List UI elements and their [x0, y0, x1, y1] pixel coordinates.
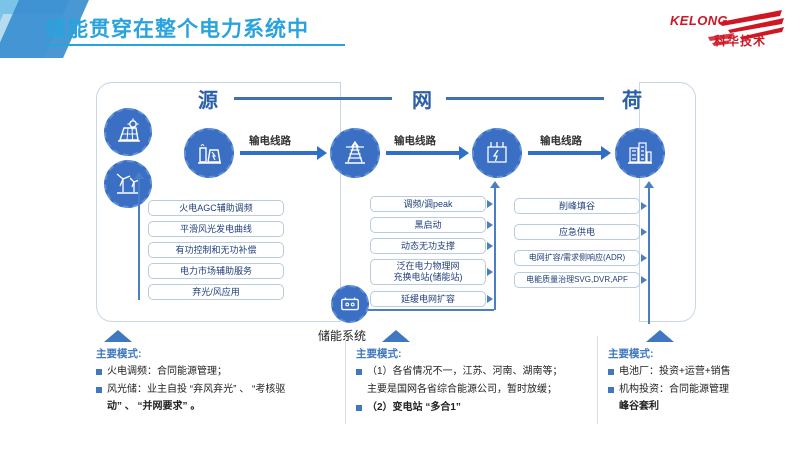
ess-label: 储能系统	[318, 327, 366, 344]
title-underline	[45, 44, 345, 46]
arrow-head-2	[459, 146, 469, 160]
chip-source-3[interactable]: 电力市场辅助服务	[148, 263, 284, 279]
chip-load-3[interactable]: 电能质量治理SVG,DVR,APF	[514, 272, 640, 288]
transmission-tower-icon	[341, 139, 369, 167]
note-source-title: 主要模式:	[96, 346, 336, 361]
arrow-head-1	[317, 146, 327, 160]
page-title: 储能贯穿在整个电力系统中	[45, 13, 309, 43]
arrow-line-2	[386, 151, 460, 155]
load-connector-3	[641, 276, 647, 284]
chip-source-4[interactable]: 弃光/风应用	[148, 284, 284, 300]
source-rail-arrow	[134, 172, 144, 179]
grid-connector-3	[487, 268, 493, 276]
arrow-head-3	[601, 146, 611, 160]
chip-load-2[interactable]: 电网扩容/需求侧响应(ADR)	[514, 250, 640, 266]
section-rule-2	[446, 97, 604, 100]
note-grid-row-0: （1）各省情况不一，江苏、河南、湖南等；	[356, 365, 600, 380]
note-marker-load	[646, 330, 674, 342]
city-buildings-icon	[626, 139, 654, 167]
load-connector-1	[641, 228, 647, 236]
note-source-text-0: 火电调频：合同能源管理；	[107, 365, 227, 380]
note-source-row-1: 风光储：业主自投 “弃风弃光” 、 “考核驱	[96, 383, 336, 398]
note-grid-text-0: （1）各省情况不一，江苏、河南、湖南等；	[367, 365, 563, 380]
grid-connector-1	[487, 221, 493, 229]
section-label-load: 荷	[622, 84, 642, 113]
load-connector-2	[641, 254, 647, 262]
node-solar[interactable]	[104, 108, 152, 156]
note-load: 主要模式: 电池厂：投资+运营+销售 机构投资：合同能源管理 峰谷套利	[608, 346, 794, 415]
chip-load-1[interactable]: 应急供电	[514, 224, 640, 240]
note-load-row-1: 机构投资：合同能源管理	[608, 383, 794, 398]
bullet-icon	[96, 369, 102, 375]
chip-grid-1[interactable]: 黑启动	[370, 217, 486, 233]
note-grid-row-1: （2）变电站 “多合1”	[356, 401, 600, 416]
note-source: 主要模式: 火电调频：合同能源管理； 风光储：业主自投 “弃风弃光” 、 “考核…	[96, 346, 336, 415]
note-marker-grid	[382, 330, 410, 342]
source-rail	[138, 178, 140, 300]
section-label-source: 源	[198, 84, 218, 113]
section-rule-1	[234, 97, 392, 100]
note-load-title: 主要模式:	[608, 346, 794, 361]
load-rail-arrow	[644, 181, 654, 188]
chip-grid-2[interactable]: 动态无功支撑	[370, 238, 486, 254]
arrow-line-1	[240, 151, 318, 155]
kelong-logo: KELONG 科华技术	[668, 6, 786, 52]
bullet-icon	[356, 405, 362, 411]
section-label-grid: 网	[412, 84, 432, 113]
grid-ess-link	[358, 309, 494, 311]
node-tower[interactable]	[330, 128, 380, 178]
arrow-label-2: 输电线路	[394, 133, 436, 148]
note-divider-1	[345, 336, 346, 424]
load-connector-0	[641, 202, 647, 210]
chip-grid-4[interactable]: 延缓电网扩容	[370, 291, 486, 307]
node-wind[interactable]	[104, 160, 152, 208]
node-thermal[interactable]	[184, 128, 234, 178]
note-source-continuation: 动” 、 “并网要求” 。	[96, 400, 336, 415]
grid-connector-4	[487, 295, 493, 303]
chip-source-2[interactable]: 有功控制和无功补偿	[148, 242, 284, 258]
chip-grid-3[interactable]: 泛在电力物理网 充换电站(储能站)	[370, 259, 486, 285]
note-load-text-1: 机构投资：合同能源管理	[619, 383, 729, 398]
note-grid: 主要模式: （1）各省情况不一，江苏、河南、湖南等； 主要是国网各省综合能源公司…	[356, 346, 600, 419]
node-substation[interactable]	[472, 128, 522, 178]
slide-root: 储能贯穿在整个电力系统中 KELONG 科华技术 源 网 荷	[0, 0, 800, 450]
grid-connector-2	[487, 242, 493, 250]
bullet-icon	[356, 369, 362, 375]
note-load-continuation: 峰谷套利	[608, 400, 794, 415]
note-grid-continuation: 主要是国网各省综合能源公司，暂时放缓；	[356, 383, 600, 398]
substation-icon	[483, 139, 511, 167]
power-plant-icon	[195, 139, 223, 167]
note-load-row-0: 电池厂：投资+运营+销售	[608, 365, 794, 380]
load-rail	[648, 188, 650, 324]
note-grid-text-1: （2）变电站 “多合1”	[367, 401, 461, 416]
arrow-label-3: 输电线路	[540, 133, 582, 148]
note-load-text-0: 电池厂：投资+运营+销售	[619, 365, 731, 380]
note-source-text-1: 风光储：业主自投 “弃风弃光” 、 “考核驱	[107, 383, 285, 398]
note-source-row-0: 火电调频：合同能源管理；	[96, 365, 336, 380]
bullet-icon	[608, 369, 614, 375]
note-grid-title: 主要模式:	[356, 346, 600, 361]
logo-wordmark: KELONG	[670, 13, 728, 28]
chip-source-1[interactable]: 平滑风光发电曲线	[148, 221, 284, 237]
chip-source-0[interactable]: 火电AGC辅助调频	[148, 200, 284, 216]
logo-chinese-name: 科华技术	[714, 32, 766, 49]
node-city[interactable]	[615, 128, 665, 178]
bullet-icon	[608, 387, 614, 393]
battery-icon	[339, 293, 361, 315]
chip-grid-0[interactable]: 调频/调peak	[370, 196, 486, 212]
chip-load-0[interactable]: 削峰填谷	[514, 198, 640, 214]
bullet-icon	[96, 387, 102, 393]
solar-panel-icon	[114, 118, 142, 146]
arrow-label-1: 输电线路	[249, 133, 291, 148]
note-marker-source	[104, 330, 132, 342]
grid-rail	[494, 188, 496, 310]
arrow-line-3	[528, 151, 602, 155]
node-ess[interactable]	[331, 285, 369, 323]
grid-rail-arrow	[490, 181, 500, 188]
grid-connector-0	[487, 200, 493, 208]
